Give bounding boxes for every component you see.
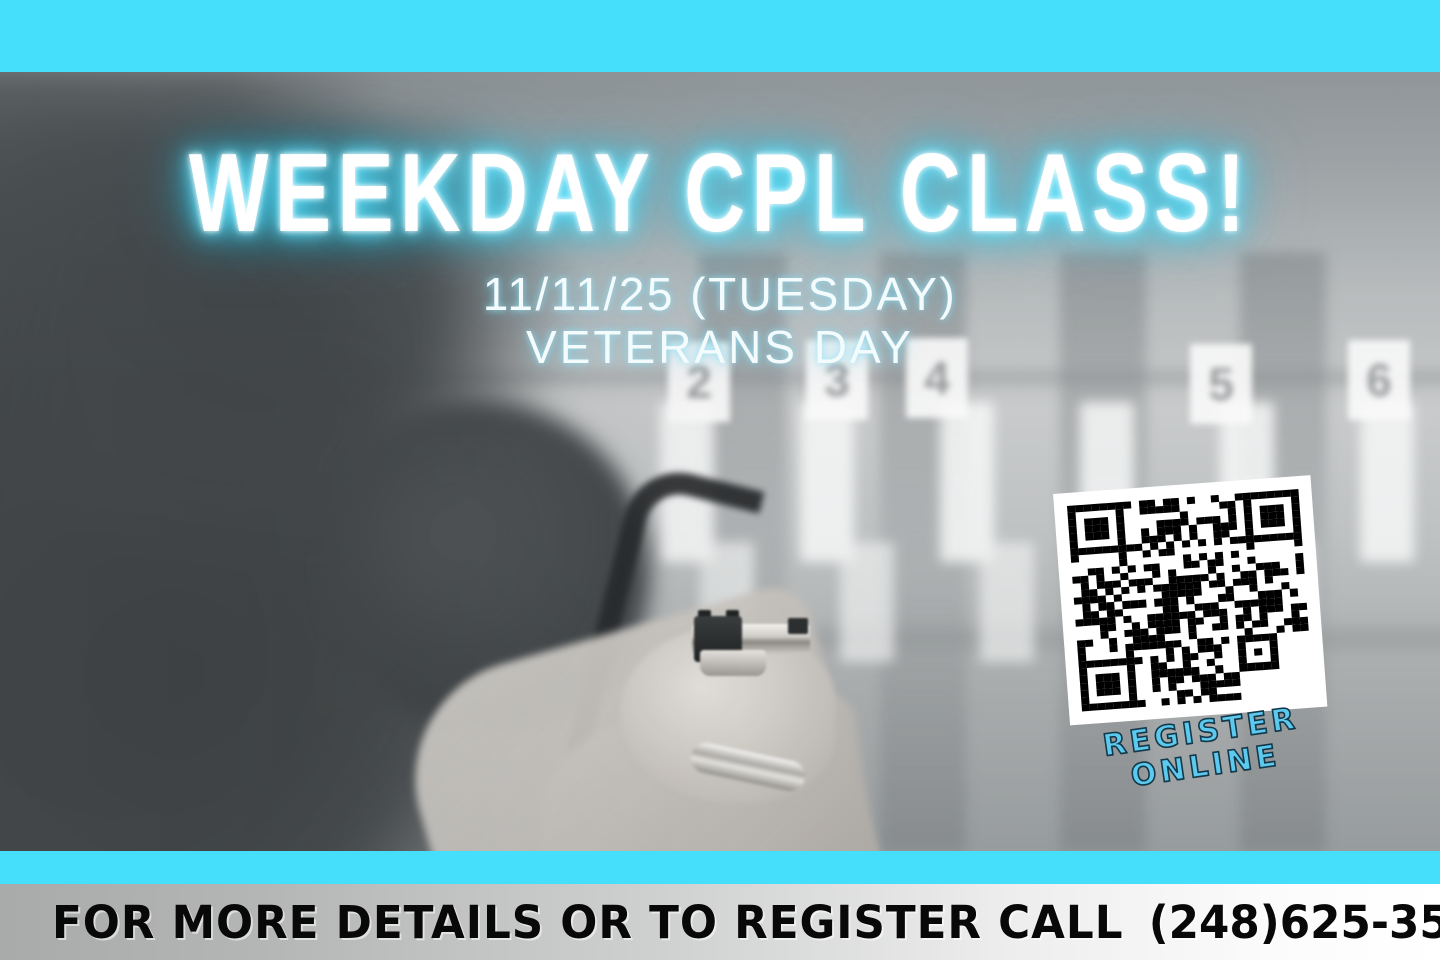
flyer-canvas: 2 3 4 5 6 WEEKDAY CPL CL [0, 0, 1440, 960]
contact-bar: FOR MORE DETAILS OR TO REGISTER CALL(248… [0, 884, 1440, 960]
qr-card[interactable] [1053, 475, 1327, 725]
bottom-accent-band [0, 851, 1440, 884]
qr-code-icon[interactable] [1067, 489, 1313, 711]
contact-text: FOR MORE DETAILS OR TO REGISTER CALL(248… [52, 900, 1440, 945]
contact-message: FOR MORE DETAILS OR TO REGISTER CALL [52, 896, 1124, 949]
top-accent-band [0, 0, 1440, 72]
pistol-icon [692, 610, 810, 674]
page-title: WEEKDAY CPL CLASS! [86, 138, 1353, 249]
event-date: 11/11/25 (TUESDAY) [0, 268, 1440, 321]
event-subtitle: 11/11/25 (TUESDAY) VETERANS DAY [0, 268, 1440, 375]
phone-number[interactable]: (248)625-3551 [1149, 896, 1440, 949]
qr-registration-block[interactable]: REGISTER ONLINE [1045, 468, 1346, 808]
event-occasion: VETERANS DAY [0, 321, 1440, 374]
